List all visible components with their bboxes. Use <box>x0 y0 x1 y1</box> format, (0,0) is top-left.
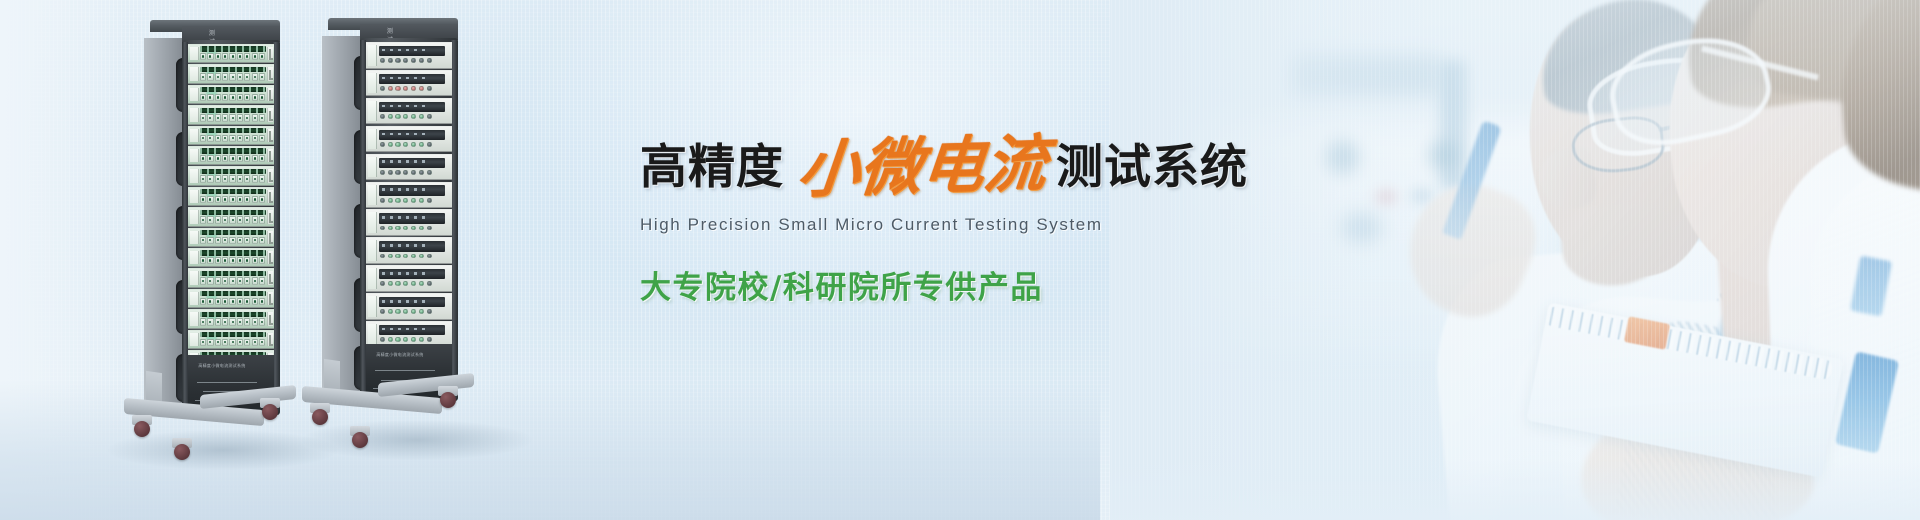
module-terminal <box>252 135 258 142</box>
module-terminal-row <box>200 53 266 60</box>
caster-wheel <box>440 392 456 408</box>
module-button <box>388 86 393 91</box>
module-button-row <box>380 168 445 176</box>
module-button <box>419 170 424 175</box>
module-terminal <box>259 318 265 325</box>
module-terminal-row <box>200 135 266 142</box>
instrument-module <box>188 166 274 185</box>
module-terminal <box>237 277 243 284</box>
module-right-panel <box>267 67 273 80</box>
module-left-panel <box>190 108 199 121</box>
module-terminal <box>244 277 250 284</box>
module-terminal <box>244 155 250 162</box>
module-terminal <box>207 216 213 223</box>
module-terminal <box>222 339 228 346</box>
module-terminal-row <box>200 318 266 325</box>
module-button <box>411 142 416 147</box>
module-terminal <box>207 339 213 346</box>
module-terminal <box>244 196 250 203</box>
module-button <box>395 142 400 147</box>
instrument-module <box>366 293 452 320</box>
module-left-panel <box>190 292 199 305</box>
module-right-panel <box>267 149 273 162</box>
instrument-module <box>188 187 274 206</box>
module-left-panel <box>190 88 199 101</box>
instrument-module <box>366 154 452 181</box>
module-terminal-row <box>200 277 266 284</box>
caster-wheel <box>134 421 150 437</box>
module-terminal <box>229 135 235 142</box>
module-terminal <box>259 155 265 162</box>
caster-wheel <box>174 444 190 460</box>
module-terminal <box>252 339 258 346</box>
module-button <box>427 114 432 119</box>
module-left-panel <box>190 129 199 142</box>
module-terminal <box>252 257 258 264</box>
module-display <box>379 74 445 84</box>
module-terminal <box>252 216 258 223</box>
module-button <box>411 337 416 342</box>
module-right-panel <box>267 271 273 284</box>
module-terminal <box>200 135 206 142</box>
module-left-panel <box>190 190 199 203</box>
module-terminal <box>215 237 221 244</box>
module-button <box>380 86 385 91</box>
module-terminal <box>222 114 228 121</box>
module-terminal <box>215 339 221 346</box>
instrument-module <box>188 44 274 63</box>
module-button <box>419 142 424 147</box>
module-display <box>379 241 445 251</box>
module-terminal <box>244 94 250 101</box>
module-terminal-row <box>200 73 266 80</box>
module-left-panel <box>368 212 377 233</box>
module-button <box>403 114 408 119</box>
module-terminal <box>207 114 213 121</box>
module-terminal <box>222 175 228 182</box>
module-connector-pins <box>200 67 266 72</box>
module-terminal <box>200 94 206 101</box>
module-button <box>395 86 400 91</box>
module-terminal <box>222 53 228 60</box>
module-connector-pins <box>200 169 266 174</box>
module-terminal <box>259 196 265 203</box>
module-terminal <box>229 175 235 182</box>
module-connector-strip <box>200 291 266 296</box>
module-terminal <box>215 53 221 60</box>
module-connector-pins <box>200 291 266 296</box>
module-connector-strip <box>200 312 266 317</box>
module-connector-strip <box>200 46 266 51</box>
module-button <box>411 198 416 203</box>
module-terminal <box>207 135 213 142</box>
module-terminal <box>207 94 213 101</box>
module-button <box>403 86 408 91</box>
subtitle-chinese: 大专院校/科研院所专供产品 <box>640 262 1380 307</box>
module-right-panel <box>267 251 273 264</box>
module-button-row <box>380 196 445 204</box>
module-connector-pins <box>200 210 266 215</box>
instrument-module <box>188 330 274 349</box>
module-terminal <box>252 318 258 325</box>
module-terminal <box>200 175 206 182</box>
instrument-module <box>188 64 274 83</box>
module-button-row <box>380 336 445 344</box>
module-terminal <box>244 237 250 244</box>
instrument-module <box>188 289 274 308</box>
module-button <box>419 58 424 63</box>
module-terminal <box>200 216 206 223</box>
module-terminal <box>229 339 235 346</box>
instrument-module <box>366 265 452 292</box>
module-connector-strip <box>200 210 266 215</box>
module-terminal <box>244 318 250 325</box>
instrument-module <box>188 85 274 104</box>
module-button <box>380 114 385 119</box>
headline-suffix: 测试系统 <box>1056 144 1248 191</box>
module-terminal <box>215 114 221 121</box>
module-terminal <box>229 257 235 264</box>
instrument-module <box>188 105 274 124</box>
module-terminal <box>229 53 235 60</box>
module-terminal <box>207 196 213 203</box>
module-terminal <box>259 277 265 284</box>
module-terminal <box>229 94 235 101</box>
module-connector-strip <box>200 67 266 72</box>
module-button-row <box>380 308 445 316</box>
module-terminal <box>259 216 265 223</box>
rack-bottom-label: 高精度小微电流测试系统 <box>198 363 245 369</box>
module-connector-pins <box>200 250 266 255</box>
module-terminal <box>237 318 243 325</box>
module-display <box>379 130 445 140</box>
module-connector-pins <box>200 189 266 194</box>
instrument-module <box>188 228 274 247</box>
module-left-panel <box>190 210 199 223</box>
instrument-module <box>366 98 452 125</box>
module-right-panel <box>267 169 273 182</box>
module-button <box>395 281 400 286</box>
module-terminal <box>237 94 243 101</box>
module-button <box>403 58 408 63</box>
module-terminal <box>222 73 228 80</box>
module-connector-pins <box>200 312 266 317</box>
instrument-module <box>366 126 452 153</box>
module-display <box>379 185 445 195</box>
instrument-module <box>366 42 452 69</box>
module-terminal <box>222 318 228 325</box>
module-connector-pins <box>200 332 266 337</box>
module-connector-pins <box>200 87 266 92</box>
module-terminal <box>252 53 258 60</box>
module-button <box>419 114 424 119</box>
rack-cable <box>375 370 435 371</box>
module-terminal-row <box>200 196 266 203</box>
module-button-row <box>380 252 445 260</box>
module-terminal <box>237 237 243 244</box>
module-terminal <box>215 196 221 203</box>
module-terminal <box>244 53 250 60</box>
module-terminal <box>237 135 243 142</box>
module-terminal <box>237 216 243 223</box>
module-display <box>379 46 445 56</box>
module-display <box>379 297 445 307</box>
module-button <box>395 198 400 203</box>
module-terminal <box>200 196 206 203</box>
module-right-panel <box>267 190 273 203</box>
module-terminal <box>259 237 265 244</box>
module-terminal-row <box>200 298 266 305</box>
module-button <box>427 142 432 147</box>
module-terminal <box>237 298 243 305</box>
module-left-panel <box>190 312 199 325</box>
instrument-module <box>188 126 274 145</box>
module-button <box>395 114 400 119</box>
module-button <box>388 281 393 286</box>
module-button <box>388 337 393 342</box>
module-left-panel <box>190 271 199 284</box>
module-terminal <box>215 277 221 284</box>
module-button <box>388 170 393 175</box>
module-terminal <box>229 114 235 121</box>
module-terminal <box>215 135 221 142</box>
module-left-panel <box>190 47 199 60</box>
module-button <box>427 170 432 175</box>
module-button <box>403 198 408 203</box>
module-right-panel <box>267 88 273 101</box>
module-terminal <box>229 298 235 305</box>
module-terminal <box>237 339 243 346</box>
module-left-panel <box>368 296 377 317</box>
module-button <box>419 337 424 342</box>
module-button <box>388 254 393 259</box>
module-left-panel <box>190 149 199 162</box>
module-connector-pins <box>200 230 266 235</box>
module-button <box>388 114 393 119</box>
module-button <box>411 58 416 63</box>
module-button <box>395 226 400 231</box>
module-terminal <box>200 114 206 121</box>
module-connector-pins <box>200 271 266 276</box>
module-button <box>388 142 393 147</box>
instrument-module <box>366 70 452 97</box>
module-button-row <box>380 57 445 65</box>
module-connector-strip <box>200 169 266 174</box>
module-terminal-row <box>200 339 266 346</box>
module-terminal <box>215 216 221 223</box>
module-terminal <box>244 216 250 223</box>
module-terminal <box>222 135 228 142</box>
module-button <box>380 170 385 175</box>
module-terminal <box>244 114 250 121</box>
module-terminal <box>237 257 243 264</box>
module-button <box>380 309 385 314</box>
module-terminal <box>200 155 206 162</box>
module-connector-pins <box>200 128 266 133</box>
module-terminal <box>252 114 258 121</box>
module-button-row <box>380 113 445 121</box>
module-terminal <box>229 196 235 203</box>
module-button <box>403 281 408 286</box>
module-terminal <box>237 114 243 121</box>
module-terminal <box>259 114 265 121</box>
module-terminal <box>200 73 206 80</box>
caster-wheel <box>312 409 328 425</box>
module-connector-strip <box>200 87 266 92</box>
module-connector-strip <box>200 332 266 337</box>
module-button <box>380 58 385 63</box>
module-left-panel <box>368 240 377 261</box>
headline-prefix: 高精度 <box>640 144 784 191</box>
module-button <box>411 114 416 119</box>
module-terminal <box>207 318 213 325</box>
module-button <box>388 226 393 231</box>
headline: 高精度 小微电流 测试系统 <box>640 132 1380 191</box>
photo-bottom-fade <box>1110 460 1920 520</box>
module-button <box>403 170 408 175</box>
module-terminal <box>229 318 235 325</box>
module-terminal <box>222 277 228 284</box>
module-button <box>380 226 385 231</box>
module-right-panel <box>267 312 273 325</box>
module-button <box>403 337 408 342</box>
module-button <box>419 281 424 286</box>
module-button <box>419 309 424 314</box>
module-terminal <box>215 298 221 305</box>
module-button <box>380 198 385 203</box>
module-left-panel <box>190 251 199 264</box>
module-connector-strip <box>200 108 266 113</box>
module-terminal <box>207 73 213 80</box>
module-terminal <box>244 175 250 182</box>
module-connector-strip <box>200 230 266 235</box>
module-terminal <box>259 73 265 80</box>
module-right-panel <box>267 47 273 60</box>
module-left-panel <box>368 101 377 122</box>
module-terminal <box>252 196 258 203</box>
module-button-row <box>380 85 445 93</box>
module-terminal <box>244 298 250 305</box>
module-terminal <box>237 155 243 162</box>
module-terminal <box>237 196 243 203</box>
module-terminal <box>259 298 265 305</box>
module-left-panel <box>190 67 199 80</box>
instrument-module <box>188 207 274 226</box>
module-button <box>411 281 416 286</box>
module-terminal-row <box>200 237 266 244</box>
module-terminal <box>252 94 258 101</box>
module-button <box>411 226 416 231</box>
module-terminal <box>215 94 221 101</box>
module-button <box>403 254 408 259</box>
module-terminal <box>215 175 221 182</box>
module-button <box>419 86 424 91</box>
module-terminal <box>200 339 206 346</box>
module-terminal <box>207 53 213 60</box>
caster-wheel <box>262 404 278 420</box>
module-terminal-row <box>200 175 266 182</box>
module-terminal <box>215 155 221 162</box>
module-button-row <box>380 140 445 148</box>
instrument-module <box>188 309 274 328</box>
module-terminal <box>222 94 228 101</box>
module-left-panel <box>368 185 377 206</box>
module-terminal <box>237 175 243 182</box>
module-terminal <box>222 237 228 244</box>
module-terminal <box>215 73 221 80</box>
module-button <box>388 198 393 203</box>
module-button <box>419 226 424 231</box>
instrument-module <box>366 237 452 264</box>
module-connector-pins <box>200 148 266 153</box>
module-terminal <box>237 53 243 60</box>
module-button <box>395 337 400 342</box>
module-button <box>427 226 432 231</box>
module-button <box>380 142 385 147</box>
module-button <box>427 281 432 286</box>
module-terminal <box>222 298 228 305</box>
module-left-panel <box>368 73 377 94</box>
instrument-module <box>188 146 274 165</box>
module-terminal-row <box>200 94 266 101</box>
module-connector-strip <box>200 128 266 133</box>
module-button-row <box>380 224 445 232</box>
subtitle-english: High Precision Small Micro Current Testi… <box>640 215 1380 235</box>
instrument-module <box>188 248 274 267</box>
module-button <box>411 170 416 175</box>
module-terminal <box>244 135 250 142</box>
rack-cable <box>197 382 257 383</box>
module-button <box>427 254 432 259</box>
module-terminal <box>244 257 250 264</box>
module-terminal <box>229 216 235 223</box>
module-right-panel <box>267 231 273 244</box>
module-terminal <box>244 339 250 346</box>
module-terminal <box>252 155 258 162</box>
module-right-panel <box>267 292 273 305</box>
module-connector-pins <box>200 108 266 113</box>
module-connector-strip <box>200 250 266 255</box>
module-button <box>380 254 385 259</box>
module-terminal-row <box>200 155 266 162</box>
module-button <box>419 198 424 203</box>
module-terminal <box>222 155 228 162</box>
module-button <box>403 226 408 231</box>
module-button <box>403 309 408 314</box>
module-terminal <box>207 257 213 264</box>
module-left-panel <box>190 333 199 346</box>
module-button <box>427 309 432 314</box>
module-terminal <box>200 237 206 244</box>
module-terminal-row <box>200 216 266 223</box>
module-terminal <box>200 53 206 60</box>
instrument-module <box>366 182 452 209</box>
module-terminal <box>215 318 221 325</box>
module-terminal <box>259 257 265 264</box>
module-button <box>411 86 416 91</box>
module-terminal <box>200 298 206 305</box>
module-left-panel <box>190 169 199 182</box>
module-terminal <box>252 237 258 244</box>
module-terminal <box>259 175 265 182</box>
module-button <box>380 337 385 342</box>
module-left-panel <box>368 268 377 289</box>
module-button <box>388 58 393 63</box>
module-left-panel <box>368 129 377 150</box>
module-terminal <box>207 175 213 182</box>
module-right-panel <box>267 129 273 142</box>
module-display <box>379 213 445 223</box>
